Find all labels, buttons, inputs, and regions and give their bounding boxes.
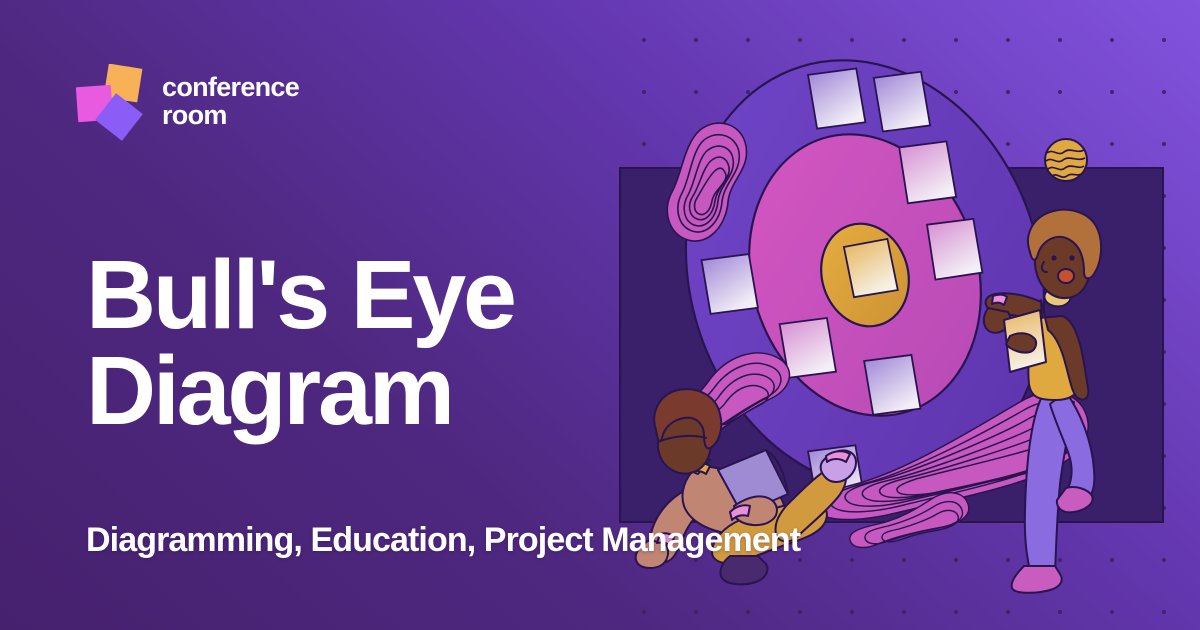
brand-logo[interactable]: conference room (74, 64, 334, 150)
brand-name-line1: conference (162, 73, 299, 101)
logo-mark-icon (74, 64, 152, 144)
gold-striped-ball (1045, 139, 1087, 181)
promo-card: conference room Bull's Eye Diagram Diagr… (0, 0, 1200, 630)
page-subtitle: Diagramming, Education, Project Manageme… (86, 521, 800, 560)
brand-logo-text: conference room (162, 73, 299, 129)
page-title: Bull's Eye Diagram (86, 247, 646, 439)
brand-name-line2: room (162, 101, 299, 129)
